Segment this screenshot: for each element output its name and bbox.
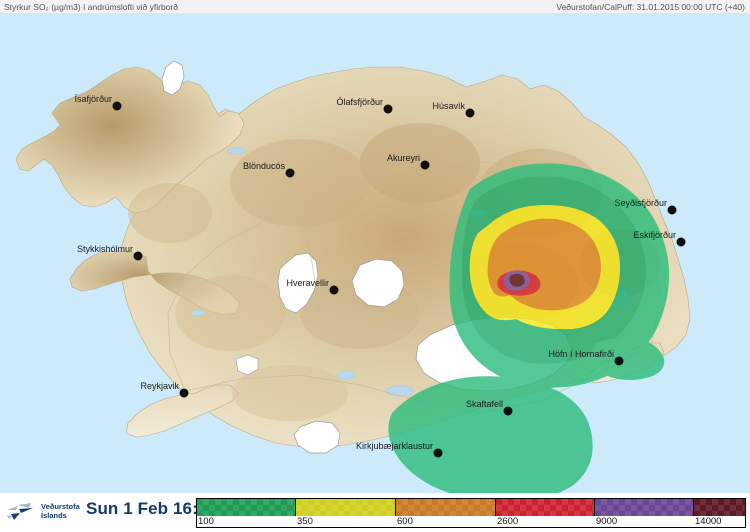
city-dot-eskifjordur[interactable] (677, 238, 685, 246)
legend-segment-texture (197, 499, 295, 516)
city-dot-stykkisholmur[interactable] (134, 252, 142, 260)
vedurstofa-logo[interactable]: Veðurstofa Íslands (5, 501, 85, 523)
legend-segment-100 (197, 499, 296, 516)
legend-tick-9000: 9000 (595, 516, 617, 527)
legend-segment-texture (595, 499, 693, 516)
city-dot-akureyri[interactable] (421, 161, 429, 169)
legend-tick-350: 350 (296, 516, 313, 527)
vedurstofa-logo-icon (5, 501, 39, 523)
city-dot-hofn[interactable] (615, 357, 623, 365)
city-label-husavik: Húsavík (432, 101, 465, 111)
page-title: Styrkur SO₂ (µg/m3) í andrúmslofti við y… (4, 2, 178, 12)
legend-tick-2600: 2600 (496, 516, 518, 527)
city-dot-olafsfjordur[interactable] (384, 105, 392, 113)
city-dot-seydisfjordur[interactable] (668, 206, 676, 214)
legend-segment-600 (396, 499, 496, 516)
model-source-label: Veðurstofan/CalPuff: 31.01.2015 00:00 UT… (556, 2, 745, 12)
city-label-skaftafell: Skaftafell (466, 399, 503, 409)
city-label-hofn: Höfn í Hornafirði (548, 349, 614, 359)
city-label-hveravellir: Hveravellir (286, 278, 329, 288)
logo-text: Veðurstofa Íslands (41, 502, 80, 520)
legend-segment-14000 (694, 499, 745, 516)
city-label-blonduos: Blönducós (243, 161, 286, 171)
legend-segment-350 (296, 499, 396, 516)
legend-segment-texture (296, 499, 395, 516)
city-label-olafsfjordur: Ólafsfjörður (336, 97, 383, 107)
city-label-reykjavik: Reykjavik (140, 381, 179, 391)
city-dot-hveravellir[interactable] (330, 286, 338, 294)
city-label-kirkjubaejarklaustur: Kirkjubæjarklaustur (356, 441, 433, 451)
legend-tick-labels: 1003506002600900014000 (197, 516, 745, 527)
legend-segment-texture (396, 499, 495, 516)
city-label-eskifjordur: Eskifjörður (633, 230, 676, 240)
city-label-isafjordur: Ísafjörður (74, 94, 112, 104)
legend-segment-texture (694, 499, 745, 516)
city-dot-husavik[interactable] (466, 109, 474, 117)
legend-tick-600: 600 (396, 516, 413, 527)
legend-tick-100: 100 (197, 516, 214, 527)
legend-segment-9000 (595, 499, 694, 516)
city-label-akureyri: Akureyri (387, 153, 420, 163)
city-label-stykkisholmur: Stykkishólmur (77, 244, 133, 254)
city-label-seydisfjordur: Seyðisfjörður (614, 198, 667, 208)
header-bar: Styrkur SO₂ (µg/m3) í andrúmslofti við y… (0, 0, 750, 14)
city-dot-kirkjubaejarklaustur[interactable] (434, 449, 442, 457)
city-dot-isafjordur[interactable] (113, 102, 121, 110)
city-dot-skaftafell[interactable] (504, 407, 512, 415)
legend-tick-14000: 14000 (694, 516, 721, 527)
plume-band-darkred-core (509, 274, 524, 287)
logo-line-1: Veðurstofa (41, 502, 80, 511)
plume-lobe-southeast (388, 376, 592, 493)
logo-line-2: Íslands (41, 511, 67, 520)
city-dot-blonduos[interactable] (286, 169, 294, 177)
city-dot-reykjavik[interactable] (180, 389, 188, 397)
so2-forecast-map-window: Styrkur SO₂ (µg/m3) í andrúmslofti við y… (0, 0, 750, 532)
legend-segment-2600 (496, 499, 595, 516)
legend-segment-texture (496, 499, 594, 516)
concentration-legend[interactable]: 1003506002600900014000 (196, 498, 746, 528)
map-canvas[interactable]: Ísafjörður Blönducós Ólafsfjörður Húsaví… (0, 13, 750, 493)
map-svg: Ísafjörður Blönducós Ólafsfjörður Húsaví… (0, 13, 750, 493)
legend-color-bar (197, 499, 745, 516)
